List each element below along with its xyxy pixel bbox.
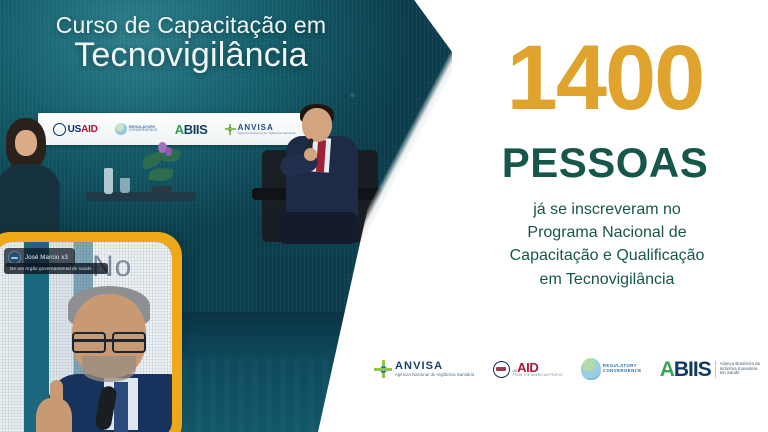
headline-description: já se inscreveram no Programa Nacional d… bbox=[458, 198, 756, 291]
event-title: Curso de Capacitação em Tecnovigilância bbox=[26, 14, 356, 73]
logo-anvisa-tagline: Agência Nacional de Vigilância Sanitária bbox=[395, 373, 474, 377]
panelist-speaking bbox=[276, 108, 372, 244]
participant-subtitle[interactable]: De um órgão governamental de saúde › bbox=[4, 263, 108, 274]
video-inset-frame: No pı José Marcio x3 De um órgão governa… bbox=[0, 232, 182, 432]
stage-side-table bbox=[86, 192, 196, 201]
chevron-right-icon: › bbox=[100, 266, 102, 271]
logo-usaid: USAID FROM THE AMERICAN PEOPLE bbox=[493, 361, 563, 378]
event-title-line1: Curso de Capacitação em bbox=[26, 14, 356, 37]
participant-name: José Marcio x3 bbox=[25, 254, 68, 261]
promo-poster: Curso de Capacitação em Tecnovigilância … bbox=[0, 0, 768, 432]
logo-abiis-rest: BIIS bbox=[674, 358, 711, 381]
logo-abiis: ABIIS Aliança Brasileira da Indústria In… bbox=[660, 359, 760, 380]
video-inset: No pı José Marcio x3 De um órgão governa… bbox=[0, 242, 172, 432]
usaid-seal-icon bbox=[493, 361, 510, 378]
logo-convergence-line2: CONVERGENCE bbox=[603, 369, 642, 374]
logo-anvisa-name: ANVISA bbox=[395, 361, 474, 373]
anvisa-cross-icon bbox=[225, 124, 236, 135]
water-glass bbox=[120, 178, 130, 193]
banner-convergence-line2: CONVERGENCE bbox=[129, 129, 158, 132]
logo-abiis-a: A bbox=[660, 358, 674, 381]
logo-anvisa: ANVISA Agência Nacional de Vigilância Sa… bbox=[374, 360, 474, 378]
blurb-line-3: Capacitação e Qualificação bbox=[458, 244, 756, 267]
inset-speaker bbox=[42, 294, 172, 432]
divider bbox=[715, 361, 716, 378]
logo-regulatory-convergence: REGULATORY CONVERGENCE bbox=[581, 358, 642, 380]
event-title-line2: Tecnovigilância bbox=[26, 38, 356, 73]
blurb-line-2: Programa Nacional de bbox=[458, 221, 756, 244]
sponsor-logo-row: ANVISA Agência Nacional de Vigilância Sa… bbox=[374, 352, 760, 386]
headline-number: 1400 bbox=[452, 36, 758, 121]
banner-abiis-logo: ABIIS bbox=[175, 122, 208, 137]
banner-usaid-text: USAID bbox=[68, 124, 98, 135]
blurb-line-1: já se inscreveram no bbox=[458, 198, 756, 221]
globe-icon bbox=[115, 123, 127, 135]
logo-usaid-tagline: FROM THE AMERICAN PEOPLE bbox=[513, 374, 563, 377]
panelist-left bbox=[0, 118, 62, 248]
globe-icon bbox=[581, 358, 601, 380]
participant-subtitle-text: De um órgão governamental de saúde bbox=[10, 266, 92, 271]
logo-abiis-tagline-3: em Saúde bbox=[720, 371, 760, 376]
banner-convergence-logo: REGULATORY CONVERGENCE bbox=[115, 123, 158, 135]
anvisa-cross-icon bbox=[374, 360, 392, 378]
headline-word: PESSOAS bbox=[452, 142, 758, 184]
blurb-line-4: em Tecnovigilância bbox=[458, 268, 756, 291]
water-bottle bbox=[104, 168, 113, 194]
